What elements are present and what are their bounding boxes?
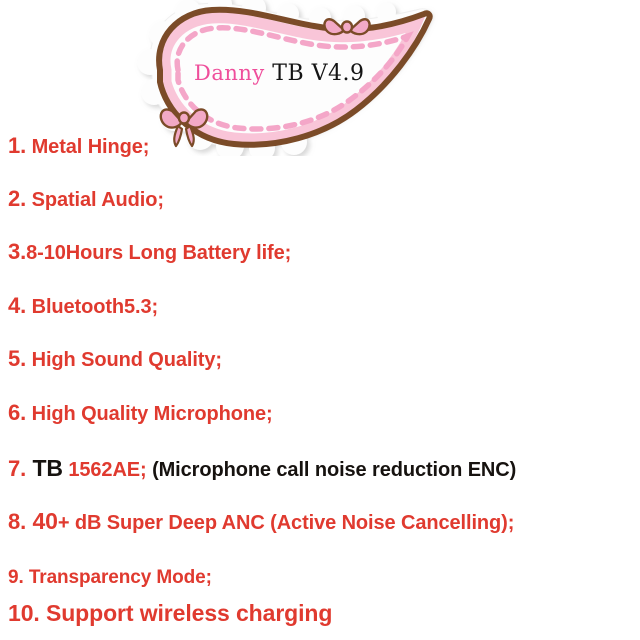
list-item: 10. Support wireless charging (8, 600, 332, 627)
item-number: 3. (8, 239, 26, 264)
product-feature-graphic: Danny TB V4.9 1. Metal Hinge; 2. Spatial… (0, 0, 640, 640)
item-text-note: (Microphone call noise reduction ENC) (147, 459, 517, 481)
item-number: 8. (8, 509, 26, 534)
item-number: 5. (8, 346, 26, 371)
item-text: High Quality Microphone; (26, 403, 272, 425)
item-number: 1. (8, 133, 26, 158)
list-item: 5. High Sound Quality; (8, 346, 222, 372)
list-item: 7. TB 1562AE; (Microphone call noise red… (8, 455, 516, 482)
item-text: Metal Hinge; (26, 136, 149, 158)
list-item: 8. 40+ dB Super Deep ANC (Active Noise C… (8, 508, 514, 535)
item-text: High Sound Quality; (26, 349, 222, 371)
list-item: 6. High Quality Microphone; (8, 400, 273, 426)
item-number: 9. (8, 567, 24, 588)
item-number: 7. (8, 456, 26, 481)
item-text-chipset: TB (26, 455, 63, 481)
list-item: 1. Metal Hinge; (8, 133, 149, 159)
item-text: Support wireless charging (40, 600, 333, 626)
item-text: 8-10Hours Long Battery life; (26, 242, 291, 264)
item-text: Bluetooth5.3; (26, 296, 158, 318)
item-text-db-value: 40 (26, 508, 58, 534)
item-number: 10. (8, 600, 40, 626)
feature-list: 1. Metal Hinge; 2. Spatial Audio; 3.8-10… (0, 0, 640, 640)
list-item: 3.8-10Hours Long Battery life; (8, 239, 291, 265)
list-item: 4. Bluetooth5.3; (8, 293, 158, 319)
list-item: 2. Spatial Audio; (8, 186, 164, 212)
item-text-chipset-code: 1562AE; (63, 459, 147, 481)
item-number: 4. (8, 293, 26, 318)
list-item: 9. Transparency Mode; (8, 567, 212, 589)
item-text: Transparency Mode; (24, 567, 212, 588)
item-number: 2. (8, 186, 26, 211)
item-text: Spatial Audio; (26, 189, 164, 211)
item-text: + dB Super Deep ANC (Active Noise Cancel… (58, 512, 514, 534)
item-number: 6. (8, 400, 26, 425)
